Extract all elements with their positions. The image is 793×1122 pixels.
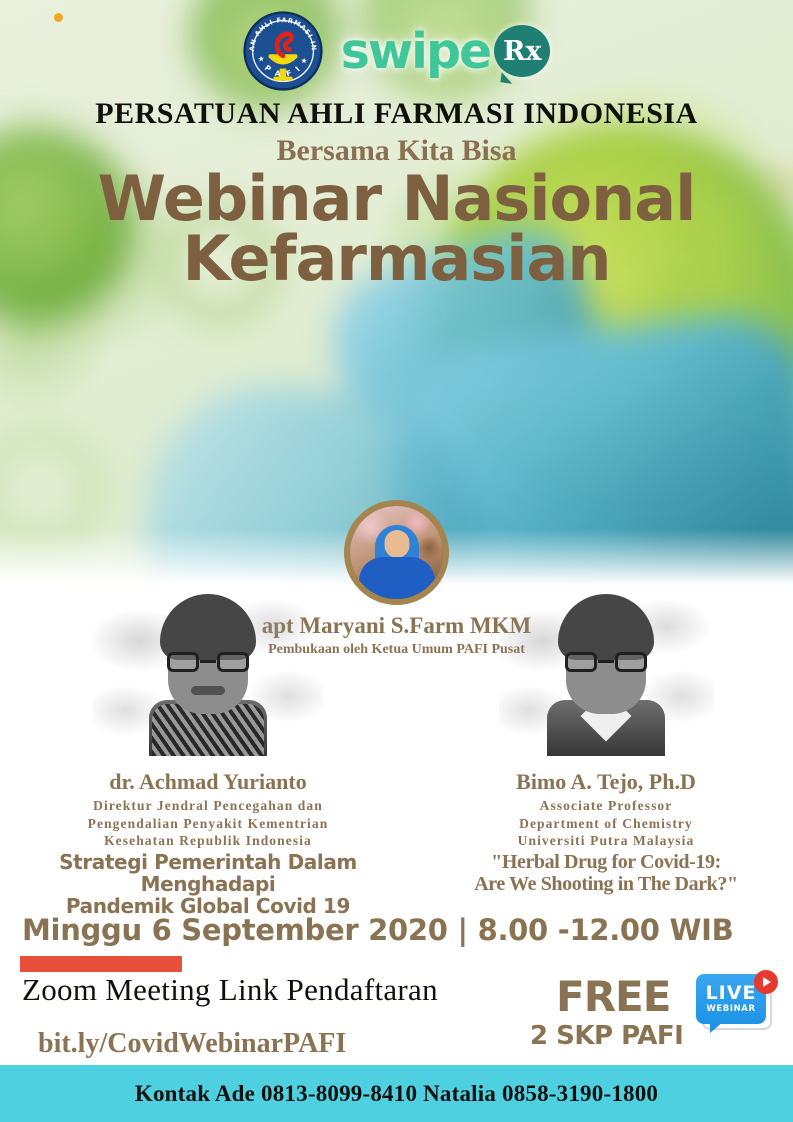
contact-text: Kontak Ade 0813-8099-8410 Natalia 0858-3… [135, 1081, 658, 1107]
play-button-icon [754, 970, 778, 994]
contact-bar: Kontak Ade 0813-8099-8410 Natalia 0858-3… [0, 1065, 793, 1122]
title-line-2: Kefarmasian [0, 229, 793, 289]
speaker-right-role-line-3: Universiti Putra Malaysia [421, 832, 791, 849]
speaker-left-topic-line-1: Strategi Pemerintah Dalam Menghadapi [8, 851, 408, 895]
speaker-left-role-line-3: Kesehatan Republik Indonesia [8, 832, 408, 849]
speaker-left: dr. Achmad Yurianto Direktur Jendral Pen… [8, 588, 408, 917]
swipe-i-dot-icon [54, 13, 63, 22]
speaker-right-topic: "Herbal Drug for Covid-19: Are We Shooti… [421, 851, 791, 895]
swiperx-logo: swipe Rx [341, 23, 551, 80]
speaker-left-role: Direktur Jendral Pencegahan dan Pengenda… [8, 797, 408, 849]
registration-link[interactable]: bit.ly/CovidWebinarPAFI [38, 1028, 346, 1060]
price-free-label: FREE [556, 972, 670, 1021]
speaker-left-name: dr. Achmad Yurianto [8, 769, 408, 794]
speaker-right-photo [499, 588, 714, 763]
live-webinar-badge: LIVE WEBINAR [696, 972, 778, 1044]
credits-label: 2 SKP PAFI [530, 1021, 683, 1051]
event-platform-line: Zoom Meeting Link Pendaftaran [22, 972, 438, 1008]
speaker-left-topic: Strategi Pemerintah Dalam Menghadapi Pan… [8, 851, 408, 917]
pafi-logo-icon: PERSATUAN AHLI FARMASI INDONESIA ★ P A F… [243, 11, 323, 91]
speaker-right-topic-line-1: "Herbal Drug for Covid-19: [421, 851, 791, 873]
red-accent-bar [20, 956, 182, 972]
headshot-glasses-icon [167, 652, 249, 672]
headshot-glasses-icon [565, 652, 647, 672]
event-date-time: Minggu 6 September 2020 | 8.00 -12.00 WI… [22, 913, 733, 947]
headshot-bimo-tejo [546, 594, 666, 754]
avatar-face [384, 530, 409, 558]
speaker-left-photo [93, 588, 323, 763]
headshot-moustache [191, 686, 225, 695]
speaker-left-role-line-2: Pengendalian Penyakit Kementrian [8, 815, 408, 832]
rx-speech-bubble-icon: Rx [494, 25, 550, 77]
headshot-achmad-yurianto [148, 594, 268, 754]
speaker-right-name: Bimo A. Tejo, Ph.D [421, 769, 791, 794]
badge-webinar-label: WEBINAR [706, 1005, 755, 1014]
organization-name: PERSATUAN AHLI FARMASI INDONESIA [0, 98, 793, 130]
webinar-poster: PERSATUAN AHLI FARMASI INDONESIA ★ P A F… [0, 0, 793, 1122]
logo-row: PERSATUAN AHLI FARMASI INDONESIA ★ P A F… [0, 8, 793, 94]
speaker-left-role-line-1: Direktur Jendral Pencegahan dan [8, 797, 408, 814]
headline-block: PERSATUAN AHLI FARMASI INDONESIA Bersama… [0, 98, 793, 289]
swipe-wordmark: swipe [341, 23, 491, 80]
badge-live-label: LIVE [706, 984, 757, 1003]
headshot-hair [160, 594, 256, 660]
speaker-right-topic-line-2: Are We Shooting in The Dark?" [421, 873, 791, 895]
speaker-right: Bimo A. Tejo, Ph.D Associate Professor D… [421, 588, 791, 895]
speaker-right-role-line-2: Department of Chemistry [421, 815, 791, 832]
rx-label: Rx [503, 38, 542, 65]
page-title: Webinar Nasional Kefarmasian [0, 169, 793, 289]
speaker-right-role: Associate Professor Department of Chemis… [421, 797, 791, 849]
speaker-right-role-line-1: Associate Professor [421, 797, 791, 814]
headshot-hair [558, 594, 654, 660]
